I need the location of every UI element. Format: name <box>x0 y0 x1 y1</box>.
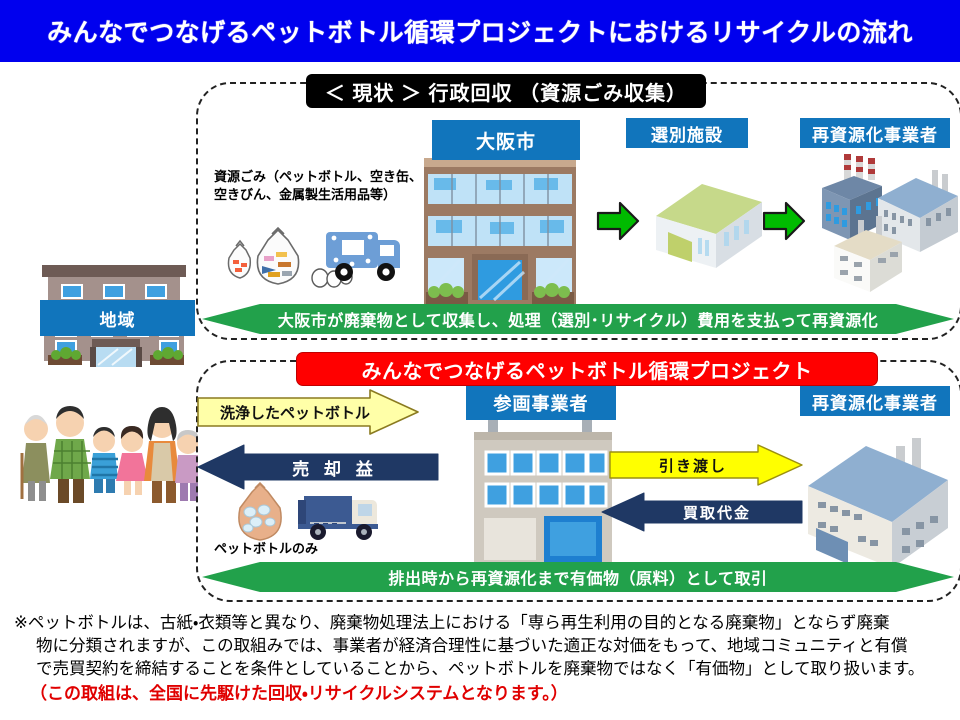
current-section-header-label: ＜ 現状 ＞ 行政回収 （資源ごみ収集） <box>325 77 687 106</box>
footnote-line-3: で売買契約を締結することを条件としていることから、ペットボトルを廃棄物ではなく「… <box>14 658 950 681</box>
footnote-line-2: 物に分類されますが、この取組みでは、事業者が経済合理性に基づいた適正な対価をもっ… <box>14 635 950 658</box>
current-flow-bar-body: 大阪市が廃棄物として収集し、処理（選別･リサイクル）費用を支払って再資源化 <box>260 304 896 334</box>
arrow-washed-pet-bottles: 洗浄したペットボトル <box>196 388 420 436</box>
project-bar-arrow-left-icon <box>202 562 260 592</box>
recycler-factory-illustration <box>796 424 956 570</box>
arrow-purchase-payment: 買取代金 <box>600 492 804 532</box>
project-flow-bar-text: 排出時から再資源化まで有価物（原料）として取引 <box>388 565 767 589</box>
participant-company-building-illustration <box>470 418 616 568</box>
label-sorting-facility-text: 選別施設 <box>651 121 723 146</box>
recyclable-waste-illustration <box>216 216 406 298</box>
project-section-header: みんなでつなげるペットボトル循環プロジェクト <box>296 352 878 386</box>
footnote-line-1: ※ペットボトルは、古紙・衣類等と異なり、廃棄物処理法上における「専ら再生利用の目… <box>14 612 950 635</box>
arrow-handover: 引き渡し <box>608 444 804 486</box>
bar-arrow-left-icon <box>202 304 260 334</box>
page-title: みんなでつなげるペットボトル循環プロジェクトにおけるリサイクルの流れ <box>47 13 913 49</box>
footnote-block: ※ペットボトルは、古紙・衣類等と異なり、廃棄物処理法上における「専ら再生利用の目… <box>14 612 950 706</box>
project-flow-bar: 排出時から再資源化まで有価物（原料）として取引 <box>202 562 954 592</box>
label-sorting-facility: 選別施設 <box>626 118 748 148</box>
label-community: 地域 <box>40 300 195 336</box>
bar-arrow-right-icon <box>896 304 954 334</box>
osaka-city-building-illustration <box>424 158 576 306</box>
arrow-city-to-sorting-icon <box>596 200 640 242</box>
label-osaka-city: 大阪市 <box>432 120 580 160</box>
pet-bottle-collection-illustration <box>228 482 396 546</box>
page-title-banner: みんなでつなげるペットボトル循環プロジェクトにおけるリサイクルの流れ <box>0 0 960 62</box>
footnote-highlight: （この取組は、全国に先駆けた回収・リサイクルシステムとなります。） <box>14 682 950 705</box>
waste-note-text: 資源ごみ（ペットボトル、空き缶、 空きびん、金属製生活用品等） <box>214 168 429 203</box>
label-osaka-city-text: 大阪市 <box>476 127 536 154</box>
label-community-text: 地域 <box>100 306 136 331</box>
project-bar-arrow-right-icon <box>896 562 954 592</box>
label-recycler-current-text: 再資源化事業者 <box>812 121 938 146</box>
label-participant-company-text: 参画事業者 <box>494 390 589 416</box>
project-section-header-label: みんなでつなげるペットボトル循環プロジェクト <box>362 355 813 384</box>
current-section-header: ＜ 現状 ＞ 行政回収 （資源ごみ収集） <box>306 74 706 108</box>
label-recycler-current: 再資源化事業者 <box>800 118 950 148</box>
current-flow-bar: 大阪市が廃棄物として収集し、処理（選別･リサイクル）費用を支払って再資源化 <box>202 304 954 334</box>
sorting-facility-illustration <box>650 176 768 268</box>
label-recycler-project: 再資源化事業者 <box>800 386 950 416</box>
arrow-sorting-to-recycler-icon <box>762 200 806 242</box>
community-family-illustration <box>18 395 198 505</box>
project-flow-bar-body: 排出時から再資源化まで有価物（原料）として取引 <box>260 562 896 592</box>
label-participant-company: 参画事業者 <box>466 386 616 420</box>
recycling-factories-illustration <box>820 152 960 298</box>
label-recycler-project-text: 再資源化事業者 <box>812 389 938 414</box>
pet-only-note: ペットボトルのみ <box>214 538 318 557</box>
current-flow-bar-text: 大阪市が廃棄物として収集し、処理（選別･リサイクル）費用を支払って再資源化 <box>278 307 878 331</box>
